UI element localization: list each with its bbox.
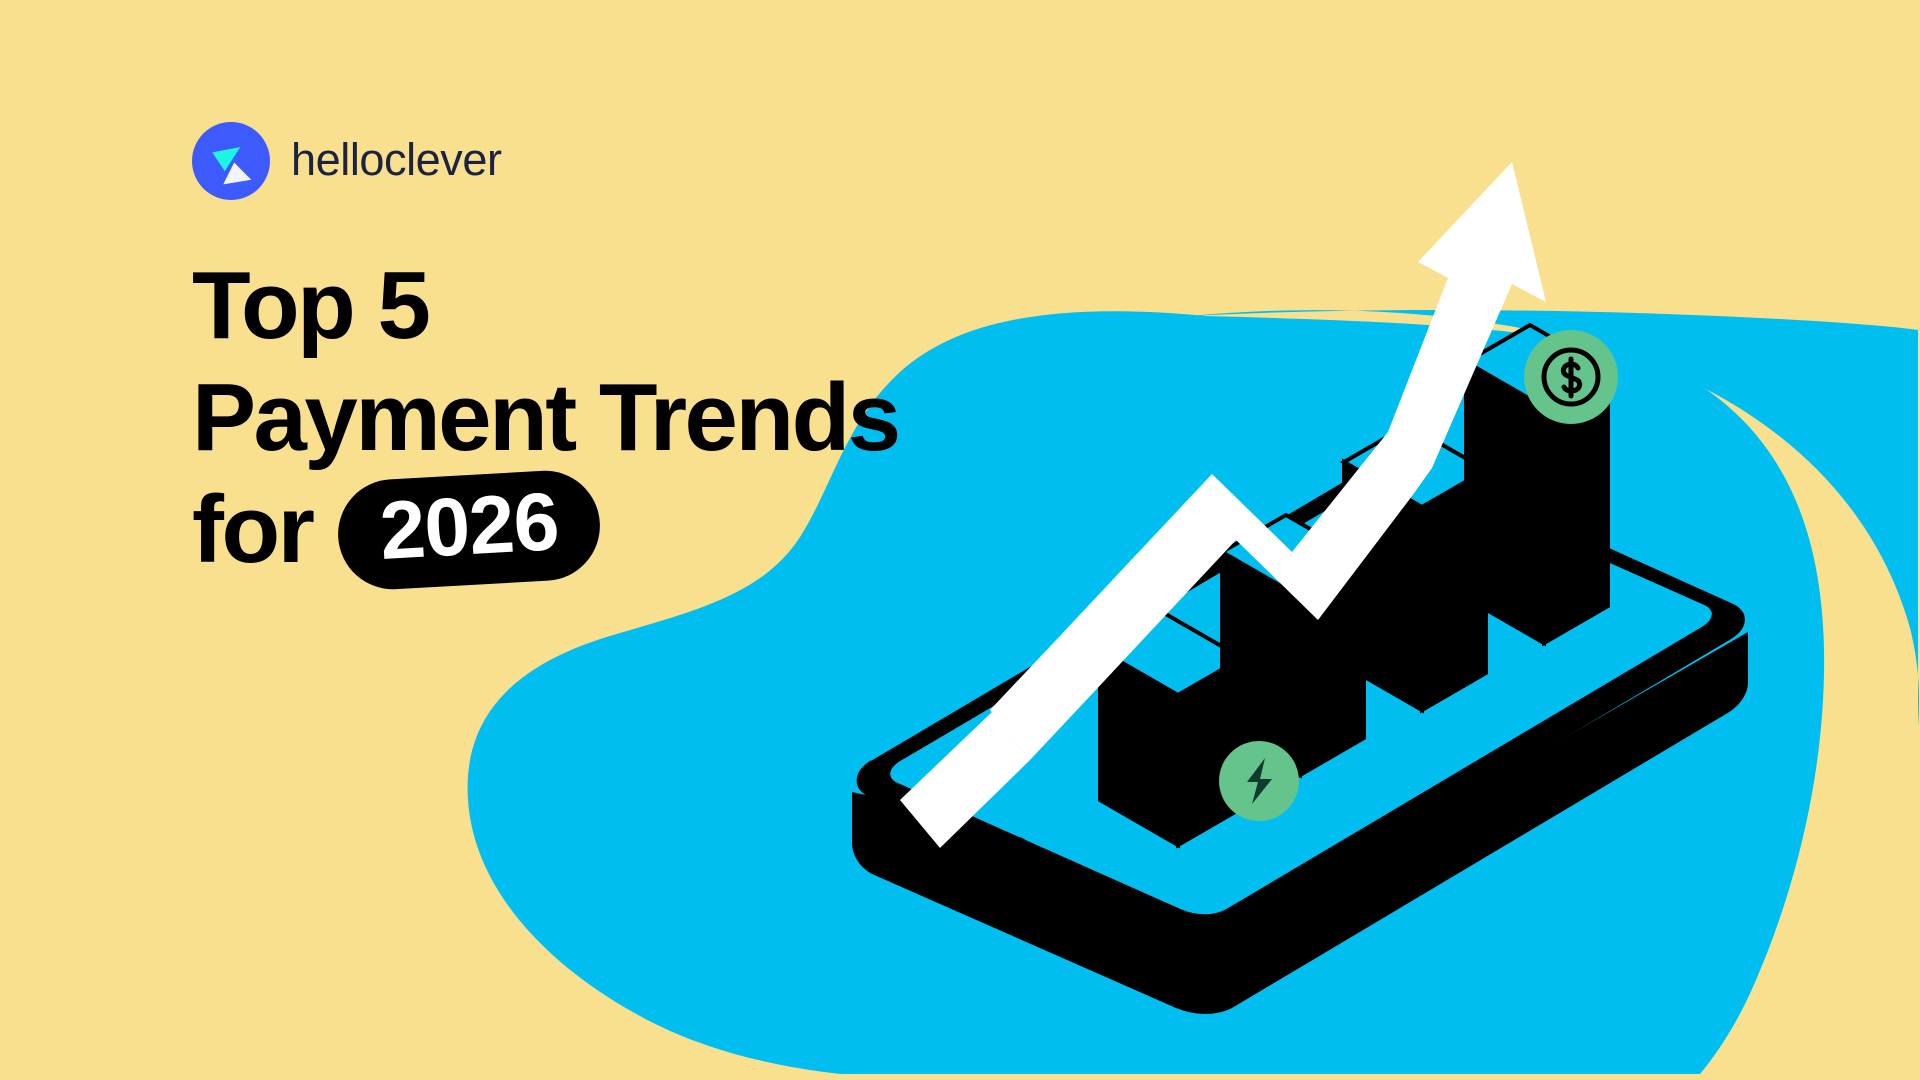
page-title: Top 5 Payment Trends for 2026 <box>192 250 1012 586</box>
headline-line-2: Payment Trends <box>192 362 1012 474</box>
dollar-sign-glyph <box>1563 359 1579 396</box>
year-badge: 2026 <box>336 468 604 592</box>
poster-canvas: helloclever Top 5 Payment Trends for 202… <box>0 0 1920 1080</box>
headline-line-3: for 2026 <box>192 474 1012 586</box>
dollar-badge <box>1524 330 1618 424</box>
headline-line-1: Top 5 <box>192 250 1012 362</box>
brand-lockup: helloclever <box>192 122 551 200</box>
headline-line-3-prefix: for <box>192 474 312 586</box>
wordmark-text: helloclever <box>291 135 502 185</box>
helloclever-wordmark: helloclever <box>291 135 551 187</box>
lightning-badge <box>1219 741 1299 821</box>
helloclever-logo-mark <box>192 122 270 200</box>
bar-4-left-face <box>1466 362 1544 643</box>
